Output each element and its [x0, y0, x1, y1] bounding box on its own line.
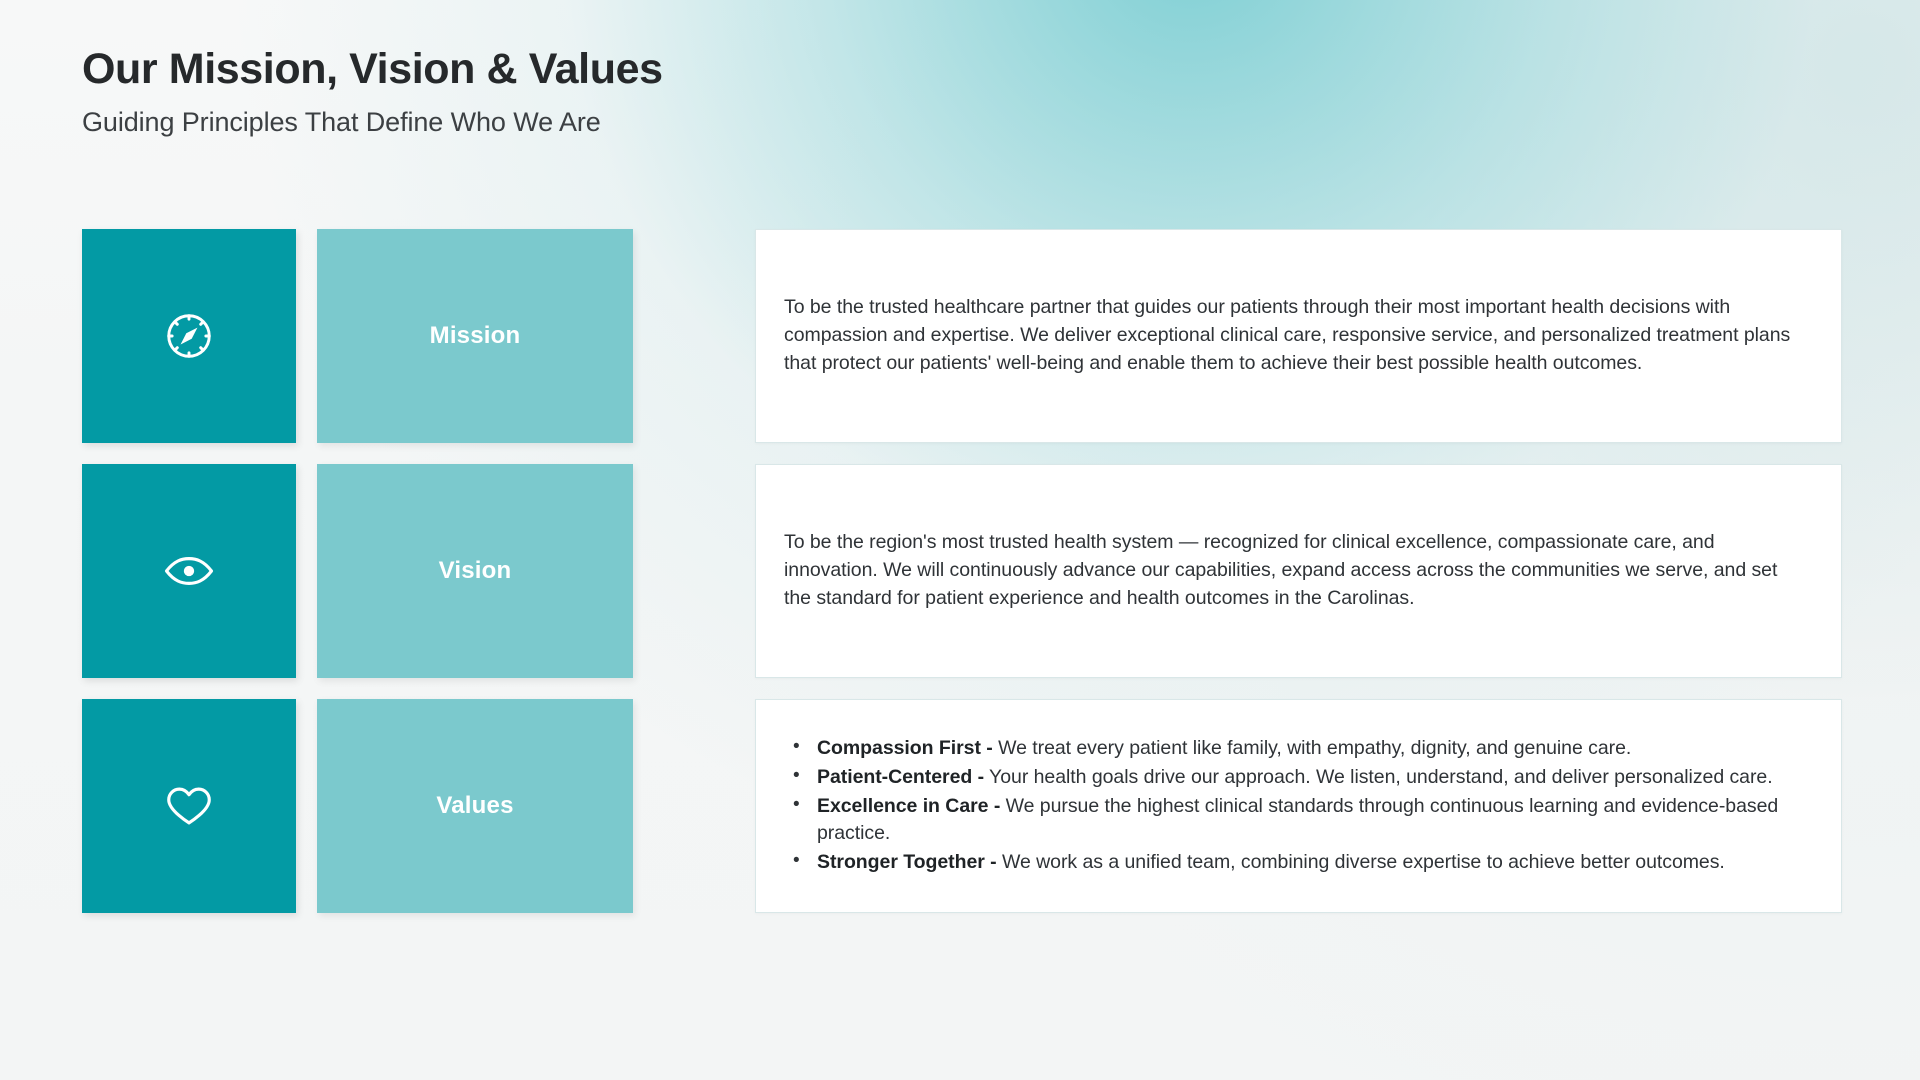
value-term: Stronger Together - — [817, 851, 997, 873]
value-text: We treat every patient like family, with… — [993, 737, 1632, 759]
list-item: Patient-Centered - Your health goals dri… — [784, 764, 1803, 792]
vision-label: Vision — [439, 557, 512, 585]
values-icon-tile — [82, 699, 296, 913]
value-term: Patient-Centered - — [817, 766, 984, 788]
vision-content-card: To be the region's most trusted health s… — [755, 464, 1842, 678]
mission-icon-tile — [82, 229, 296, 443]
principles-list: Mission To be the trusted healthcare par… — [82, 229, 1842, 913]
mission-body-text: To be the trusted healthcare partner tha… — [784, 294, 1803, 377]
page-title: Our Mission, Vision & Values — [82, 44, 663, 95]
values-label: Values — [436, 792, 513, 820]
mission-content-card: To be the trusted healthcare partner tha… — [755, 229, 1842, 443]
values-bullet-list: Compassion First - We treat every patien… — [784, 735, 1803, 876]
principle-row-mission: Mission To be the trusted healthcare par… — [82, 229, 1842, 443]
eye-icon — [162, 544, 216, 598]
list-item: Stronger Together - We work as a unified… — [784, 849, 1803, 877]
heart-icon — [162, 779, 216, 833]
slide: Our Mission, Vision & Values Guiding Pri… — [0, 0, 1920, 1080]
slide-header: Our Mission, Vision & Values Guiding Pri… — [82, 44, 663, 138]
vision-label-tile: Vision — [317, 464, 633, 678]
page-subtitle: Guiding Principles That Define Who We Ar… — [82, 107, 663, 138]
principle-row-vision: Vision To be the region's most trusted h… — [82, 464, 1842, 678]
vision-body-text: To be the region's most trusted health s… — [784, 529, 1803, 612]
value-text: We work as a unified team, combining div… — [997, 851, 1725, 873]
compass-icon — [162, 309, 216, 363]
list-item: Excellence in Care - We pursue the highe… — [784, 793, 1803, 848]
value-term: Excellence in Care - — [817, 795, 1000, 817]
mission-label: Mission — [430, 322, 521, 350]
mission-label-tile: Mission — [317, 229, 633, 443]
values-content-card: Compassion First - We treat every patien… — [755, 699, 1842, 913]
list-item: Compassion First - We treat every patien… — [784, 735, 1803, 763]
values-label-tile: Values — [317, 699, 633, 913]
value-text: Your health goals drive our approach. We… — [984, 766, 1773, 788]
vision-icon-tile — [82, 464, 296, 678]
value-term: Compassion First - — [817, 737, 993, 759]
principle-row-values: Values Compassion First - We treat every… — [82, 699, 1842, 913]
